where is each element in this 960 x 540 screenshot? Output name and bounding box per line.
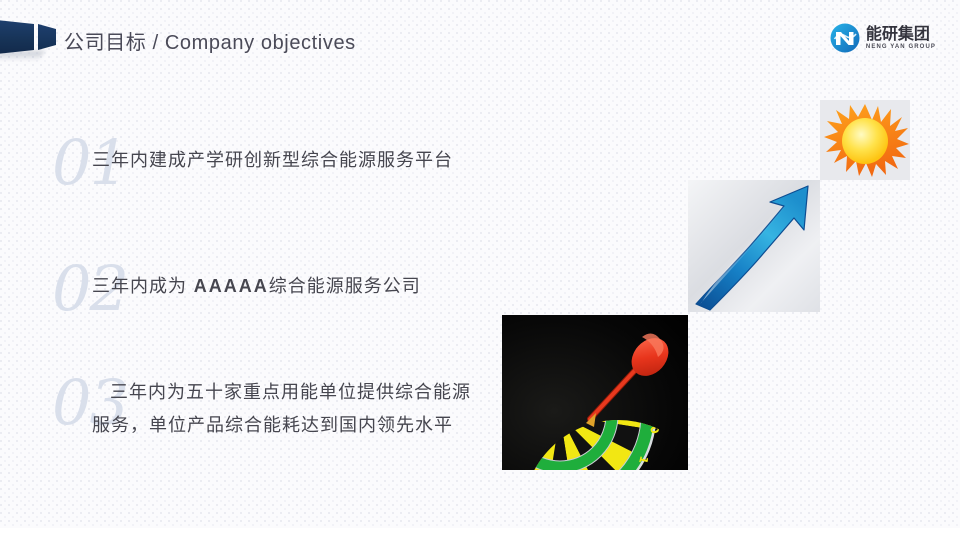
company-mark-icon: [830, 23, 860, 53]
growth-arrow-image: [688, 180, 820, 312]
dartboard-image: 12 5 20 1 18 4 9 14: [502, 315, 688, 470]
objective-item-1: 01 三年内建成产学研创新型综合能源服务平台: [0, 132, 560, 188]
page-title-separator: /: [146, 32, 164, 54]
objective-text-2-emphasis: AAAAA: [194, 276, 269, 296]
logo-english-name: NENG YAN GROUP: [866, 44, 936, 50]
nengyan-group-logo: 能研集团 NENG YAN GROUP: [830, 22, 936, 54]
page-title-en: Company objectives: [165, 32, 356, 54]
objective-item-3: 03 三年内为五十家重点用能单位提供综合能源服务，单位产品综合能耗达到国内领先水…: [0, 370, 560, 442]
page-title: 公司目标 / Company objectives: [64, 26, 356, 55]
objective-text-1: 三年内建成产学研创新型综合能源服务平台: [92, 132, 492, 177]
logo-chinese-name: 能研集团: [866, 26, 936, 42]
objective-item-2: 02 三年内成为 AAAAA综合能源服务公司: [0, 258, 560, 314]
logo-wordmark: 能研集团 NENG YAN GROUP: [866, 26, 936, 50]
navy-ribbon-banner: [0, 20, 54, 54]
objective-text-2-part-b: 综合能源服务公司: [269, 276, 421, 297]
objective-text-3: 三年内为五十家重点用能单位提供综合能源服务，单位产品综合能耗达到国内领先水平: [92, 370, 484, 442]
slide-header: 公司目标 / Company objectives: [0, 0, 960, 76]
objectives-list: 01 三年内建成产学研创新型综合能源服务平台 02 三年内成为 AAAAA综合能…: [0, 118, 560, 442]
ribbon-segment-right: [38, 24, 56, 50]
slide-root: 公司目标 / Company objectives: [0, 0, 960, 540]
ribbon-segment-left: [0, 20, 34, 54]
objective-text-2-part-a: 三年内成为: [92, 276, 194, 297]
sun-image: [820, 100, 910, 180]
bottom-white-band: [0, 528, 960, 540]
objective-text-2: 三年内成为 AAAAA综合能源服务公司: [92, 258, 492, 303]
page-title-cn: 公司目标: [64, 30, 146, 54]
